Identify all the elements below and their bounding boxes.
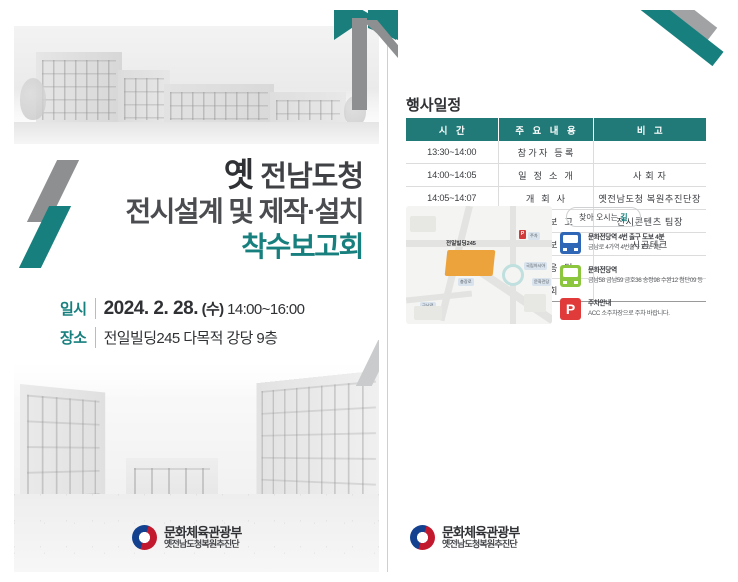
logo-ministry-name: 문화체육관광부 [164,526,241,540]
direction-line-1: 문화전당역 [588,266,703,276]
ministry-logo-right: 문화체육관광부 옛전남도청복원추진단 [410,525,519,550]
logo-text: 문화체육관광부 옛전남도청복원추진단 [442,526,519,550]
direction-item: 문화전당역금남58 금남59 금호36 송정98 수완12 첨단09 등 [560,265,710,287]
directions-badge-prefix: 찾아 오시는 [579,213,620,222]
building-shape [118,70,170,124]
building-shape [164,84,274,124]
tree-shape [20,78,46,120]
window-grid [170,92,268,120]
map-marker-icon: P [519,230,526,239]
map-block [414,306,442,320]
cell-item: 참가자 등록 [498,141,593,164]
cell-time: 13:30~14:00 [406,141,498,164]
logo-ministry-name: 문화체육관광부 [442,526,519,540]
meta-row-venue: 장소 전일빌딩245 다목적 강당 9층 [60,327,363,348]
meta-label-datetime: 일시 [60,298,96,319]
map-block [410,216,436,232]
meta-value-venue: 전일빌딩245 다목적 강당 9층 [104,327,278,348]
cell-item: 일 정 소 개 [498,164,593,187]
logo-org-name: 옛전남도청복원추진단 [442,540,519,550]
event-venue: 전일빌딩245 다목적 강당 9층 [104,330,278,347]
plaza-ground [14,122,379,144]
direction-line-2: 금남58 금남59 금호36 송정98 수완12 첨단09 등 [588,276,703,285]
location-map[interactable]: 전일빌딩245 P 주차 광주은행 국립아시아 문화전당 충장로 금남로 [406,206,552,324]
subway-icon [560,232,581,254]
direction-text: 문화전당역금남58 금남59 금호36 송정98 수완12 첨단09 등 [588,265,703,287]
logo-org-name: 옛전남도청복원추진단 [164,540,241,550]
bus-icon [560,265,581,287]
title-line-3: 착수보고회 [44,230,363,265]
directions-list: 문화전당역 4번 출구 도보 4분금남로 4가역 4번출구 도보 7분문화전당역… [560,232,710,331]
map-poi-label: 국립아시아 [524,262,547,270]
table-row: 14:00~14:05일 정 소 개사 회 자 [406,164,706,187]
top-building-photo [14,26,379,144]
taegeuk-icon [132,525,157,550]
direction-text: 주차안내ACC 소주차장으로 주차 바랍니다. [588,298,670,320]
cell-note: 사 회 자 [593,164,706,187]
direction-line-2: 금남로 4가역 4번출구 도보 7분 [588,243,664,252]
event-weekday: (수) [202,301,224,318]
window-grid [42,60,116,120]
map-road [406,291,472,304]
parking-icon [560,298,581,320]
meta-label-venue: 장소 [60,327,96,348]
map-venue-label: 전일빌딩245 [446,239,476,247]
table-header-row: 시 간 주 요 내 용 비 고 [406,118,706,141]
title-line-1-rest: 전남도청 [253,161,363,193]
window-grid [124,78,164,120]
map-poi-label: 문화전당 [532,278,551,286]
schedule-heading: 행사일정 [406,94,461,115]
taegeuk-icon [410,525,435,550]
map-poi-label: 충장로 [458,278,474,286]
directions-badge: 찾아 오시는 길 [566,207,641,227]
title-block: 옛 전남도청 전시설계 및 제작·설치 착수보고회 [44,156,363,264]
building-shape [270,92,346,124]
event-meta: 일시 2024. 2. 28. (수) 14:00~16:00 장소 전일빌딩2… [60,298,363,355]
direction-line-2: ACC 소주차장으로 주차 바랍니다. [588,309,670,318]
cell-time: 14:00~14:05 [406,164,498,187]
direction-item: 주차안내ACC 소주차장으로 주차 바랍니다. [560,298,710,320]
building-shape [36,52,122,124]
direction-line-1: 주차안내 [588,299,670,309]
map-road [406,240,552,247]
meta-row-datetime: 일시 2024. 2. 28. (수) 14:00~16:00 [60,298,363,320]
meta-value-datetime: 2024. 2. 28. (수) 14:00~16:00 [104,298,305,320]
poster-root: 옛 전남도청 전시설계 및 제작·설치 착수보고회 일시 2024. 2. 28… [0,0,738,582]
map-poi-label: 주차 [528,232,540,240]
logo-text: 문화체육관광부 옛전남도청복원추진단 [164,526,241,550]
schedule-table-head: 시 간 주 요 내 용 비 고 [406,118,706,141]
cell-note [593,141,706,164]
window-grid [276,100,340,120]
title-line-1: 옛 전남도청 [44,156,363,195]
direction-item: 문화전당역 4번 출구 도보 4분금남로 4가역 4번출구 도보 7분 [560,232,710,254]
left-panel: 옛 전남도청 전시설계 및 제작·설치 착수보고회 일시 2024. 2. 28… [14,10,379,572]
map-venue-plot [445,250,496,276]
title-emphasis: 옛 [224,156,253,193]
map-rotary [502,264,524,286]
right-panel: 행사일정 시 간 주 요 내 용 비 고 13:30~14:00참가자 등록14… [387,10,724,572]
col-header-time: 시 간 [406,118,498,141]
col-header-item: 주 요 내 용 [498,118,593,141]
direction-text: 문화전당역 4번 출구 도보 4분금남로 4가역 4번출구 도보 7분 [588,232,664,254]
decor-band-teal [640,10,724,66]
event-time: 14:00~16:00 [224,301,305,318]
direction-line-1: 문화전당역 4번 출구 도보 4분 [588,233,664,243]
decor-arrow-gray-stem [352,18,367,110]
table-row: 13:30~14:00참가자 등록 [406,141,706,164]
col-header-note: 비 고 [593,118,706,141]
directions-badge-highlight: 길 [620,213,627,222]
window-grid [27,395,99,510]
event-date: 2024. 2. 28. [104,298,198,319]
ministry-logo-left: 문화체육관광부 옛전남도청복원추진단 [132,525,241,550]
map-block [524,294,546,312]
title-line-2: 전시설계 및 제작·설치 [44,195,363,230]
